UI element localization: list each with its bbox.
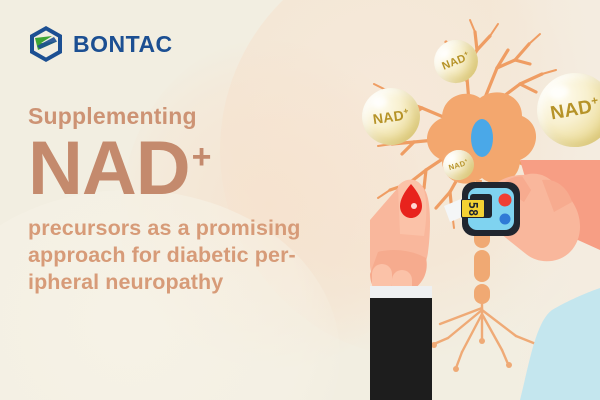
neuron-nucleus: [471, 119, 493, 157]
shirt-cuff: [370, 286, 432, 300]
suit-sleeve: [370, 298, 432, 400]
hexagon-leaf-logo-icon: [28, 25, 64, 63]
nad-bubble-top-label: NAD+: [440, 50, 472, 73]
meter-red-button[interactable]: [499, 194, 512, 207]
headline-big-word: NAD +: [28, 134, 368, 205]
headline-big-word-text: NAD: [28, 134, 190, 205]
meter-blue-button[interactable]: [500, 214, 511, 225]
nad-bubble-left-label: NAD+: [372, 106, 411, 128]
glucose-meter-display: 58: [461, 199, 485, 218]
headline-block: Supplementing NAD + precursors as a prom…: [28, 105, 368, 297]
poster-canvas: NAD+ NAD+ NAD+ NAD+: [0, 0, 600, 400]
blood-drop-highlight: [411, 203, 417, 209]
blue-glove: [520, 288, 600, 400]
nad-bubble-large-label: NAD+: [549, 94, 600, 126]
brand-logo[interactable]: BONTAC: [28, 25, 173, 63]
headline-subhead: precursors as a promising approach for d…: [28, 215, 358, 297]
headline-eyebrow: Supplementing: [28, 105, 368, 128]
hands-svg: [370, 160, 600, 400]
glucose-reading: 58: [467, 201, 479, 215]
headline-superscript: +: [192, 140, 211, 174]
hands-and-meter-illustration: [370, 160, 600, 400]
brand-name: BONTAC: [73, 33, 173, 56]
